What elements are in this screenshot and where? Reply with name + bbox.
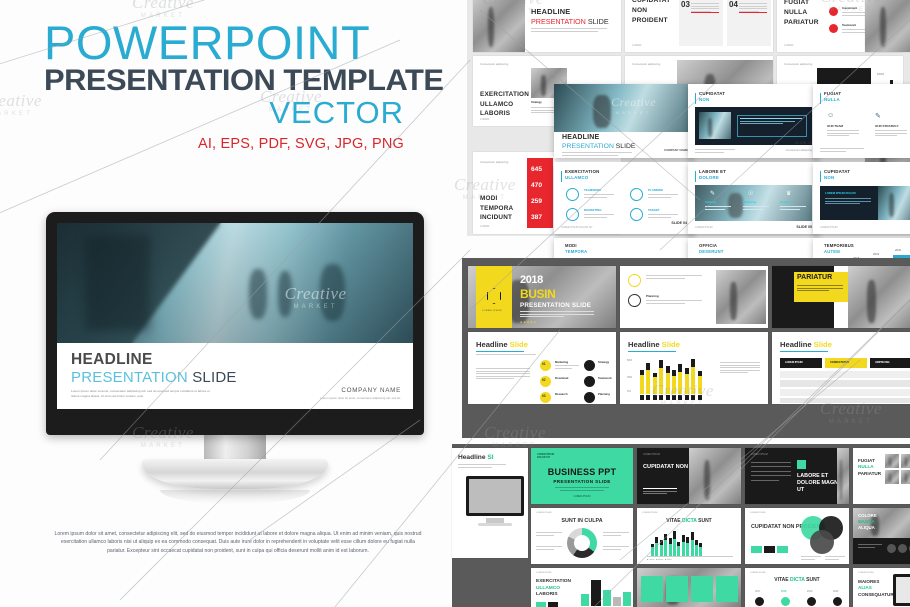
list-item[interactable] (865, 0, 910, 52)
list-item[interactable]: LOREM IPSUM CUPIDATAT NON PROIDENT (745, 508, 849, 564)
file-formats-label: AI, EPS, PDF, SVG, JPG, PNG (44, 136, 404, 152)
slide-title: MAIORES (858, 579, 879, 584)
slide-subtitle: PRESENTATION SLIDE (531, 17, 609, 26)
slide-subtitle: PRESENTATION SLIDE (562, 143, 635, 150)
slide-title: COLORE (858, 513, 877, 518)
slide-caption: HEADLINE PRESENTATION SLIDE Lorem ipsum … (57, 343, 413, 409)
year-label: 2018 (520, 274, 543, 286)
page-title: POWERPOINT (44, 20, 404, 65)
slide-title: EXERCITATION ULLAMCO LABORIS (480, 90, 526, 119)
page-subtitle: PRESENTATION TEMPLATE (44, 66, 415, 96)
axis-tick: 50% (627, 359, 632, 362)
poster-body-text: Lorem ipsum dolor sit amet, consectetur … (52, 530, 424, 555)
list-item[interactable]: PARIATUR (772, 266, 910, 328)
slide-title: EXERCITATION (536, 579, 571, 584)
slide-subtitle: NON (824, 176, 834, 181)
slide-subtitle: TEMPORA (565, 250, 587, 255)
monitor-bezel: Creative MARKET HEADLINE PRESENTATION SL… (46, 212, 424, 435)
company-name-label: COMPANY NAME (664, 148, 688, 152)
company-name-label: COMPANY NAME (320, 387, 401, 394)
slide-title: HEADLINE (531, 8, 570, 16)
axis-tick: 2019 (873, 252, 879, 256)
axis-tick: 2020 (895, 248, 901, 252)
data-value: 259 (531, 198, 542, 205)
bar-chart (640, 356, 702, 394)
list-item[interactable]: Creative MARKET HEADLINE PRESENTATION SL… (554, 84, 694, 158)
list-item[interactable]: Headline Sl (452, 448, 528, 558)
slide-subtitle: NON (699, 98, 709, 103)
table-header: LOREM IPSUM (785, 361, 803, 364)
list-item[interactable]: Planning (620, 266, 768, 328)
chart-title: Headline Slide (628, 340, 680, 349)
table-header: ADIPISCING (875, 361, 890, 364)
cover-subtitle: PRESENTATION SLIDE (520, 302, 591, 309)
list-item[interactable]: LOREM IPSUM VITAE DICTA SUNT ■ Lorem ■ I… (637, 508, 741, 564)
slide-subtitle: ULLAMCO (565, 176, 588, 181)
slide-title: FUGIAT (858, 458, 875, 463)
slide-title: Headline Slide (476, 340, 528, 349)
monitor-neck (204, 435, 266, 459)
slide-subline: PRESENTATION SLIDE (71, 369, 413, 386)
slide-title: Headline Slide (780, 340, 832, 349)
monitor-mockup: Creative MARKET HEADLINE PRESENTATION SL… (46, 212, 424, 504)
slide-title: MODI (565, 244, 577, 249)
slide-subtitle: PRESENTATION SLIDE (531, 479, 633, 484)
data-value: 470 (531, 182, 542, 189)
list-item[interactable]: LOREM IPSUM SUNT IN CULPA (531, 508, 633, 564)
list-item[interactable]: EXERCITATION ULLAMCO TEAMWORK PLANNING M… (554, 162, 694, 234)
data-value: 387 (531, 214, 542, 221)
slide-number: 03 (681, 0, 690, 9)
slide-subtitle: AUTEM (824, 250, 840, 255)
bar-chart (651, 528, 702, 556)
slide-title: BUSINESS PPT (531, 467, 633, 477)
chart-title: SUNT IN CULPA (531, 518, 633, 524)
slide-title: HEADLINE (562, 134, 599, 142)
list-item[interactable]: Headline Slide LOREM IPSUM CONSECTETUR A… (772, 332, 910, 404)
list-item[interactable]: Headline Slide 01 Marketing Strategy 02 … (468, 332, 616, 404)
slide-subtitle: DOLORE (699, 176, 719, 181)
list-item[interactable]: LOREM IPSUM 2018 BUSIN PRESENTATION SLID… (468, 266, 616, 328)
poster-headline: POWERPOINT PRESENTATION TEMPLATE VECTOR … (44, 20, 404, 152)
list-item[interactable]: COLOREMAGNAALIQUA (853, 508, 910, 564)
poster-canvas: POWERPOINT PRESENTATION TEMPLATE VECTOR … (0, 0, 910, 607)
list-item[interactable]: LABORE ET DOLORE ✎ Strategy ☉ Marketing … (688, 162, 819, 234)
list-item[interactable]: LOREM IPSUM VITAE DICTA SUNT 2017 2018 2… (745, 568, 849, 607)
list-item[interactable]: Headline Slide 50% 25% 0% (620, 332, 768, 404)
monitor-screen: Creative MARKET HEADLINE PRESENTATION SL… (57, 223, 413, 409)
monitor-reflection (160, 490, 310, 504)
page-tertiary-title: VECTOR (44, 97, 404, 130)
data-value: 645 (531, 166, 542, 173)
slide-title: TEMPORIBUS (824, 244, 854, 249)
slide-company-block: COMPANY NAME Lorem ipsum dolor sit amet,… (320, 387, 401, 400)
axis-tick: 2018 (781, 590, 786, 593)
slide-hero-photo: Creative MARKET (57, 223, 413, 343)
monitor-base (142, 459, 328, 489)
list-item[interactable]: CUPIDATAT NON PROIDENT LOREM 03 INCIDUNT… (625, 0, 773, 52)
slide-title: VITAE DICTA SUNT (745, 577, 849, 583)
slide-title: PARIATUR (797, 274, 832, 281)
slide-title: OFFICIA (699, 244, 717, 249)
slide-subtitle: DESERUNT (699, 250, 724, 255)
list-item[interactable]: LOREM IPSUM EXERCITATIONULLAMCOLABORIS (531, 568, 633, 607)
company-sub-text: Lorem ipsum dolor sit amet, consectetur … (320, 396, 401, 400)
list-item[interactable]: LOREM IPSUMDOLOR SIT BUSINESS PPT PRESEN… (531, 448, 633, 504)
axis-tick: 2019 (807, 590, 812, 593)
list-item[interactable] (637, 568, 741, 607)
slide-title: MODI TEMPORA INCIDUNT (480, 194, 524, 223)
slide-subtitle: NULLA (824, 98, 840, 103)
list-item[interactable]: CUPIDATAT NON LOREM IPSUM DOLOR LOREM IP… (813, 162, 910, 234)
axis-tick: 2020 (833, 590, 838, 593)
list-item[interactable]: HEADLINE PRESENTATION SLIDE (473, 0, 621, 52)
table-header: CONSECTETUR (830, 361, 849, 364)
list-item[interactable]: FUGIAT NULLA ☺ OUR TEAM ✎ OUR STRATEGY (813, 84, 910, 158)
slide-collage: HEADLINE PRESENTATION SLIDE CUPIDATAT NO… (461, 0, 910, 607)
list-item[interactable]: LOREM IPSUM LABORE ET DOLORE MAGNA UT (745, 448, 849, 504)
axis-tick: 25% (627, 376, 632, 379)
axis-tick: 0% (627, 390, 631, 393)
cover-word: BUSIN (520, 287, 555, 301)
chart-title: VITAE DICTA SUNT (637, 518, 741, 524)
list-item[interactable]: CUPIDATAT NON SLIDE 01Consectetur adipis… (688, 84, 819, 158)
slide-headline: HEADLINE (71, 352, 413, 368)
slide-title: FUGIAT NULLA PARIATUR (784, 0, 824, 28)
slide-title: CUPIDATAT NON PROIDENT (632, 0, 676, 26)
slide-number: 04 (729, 0, 738, 9)
list-item[interactable]: LOREM IPSUM MAIORESALIASCONSEQUATUR (853, 568, 910, 607)
list-item[interactable]: LOREM IPSUM CUPIDATAT NON PROIDENT (637, 448, 741, 504)
axis-tick: 2017 (755, 590, 760, 593)
list-item[interactable]: FUGIATNULLAPARIATUR (853, 448, 910, 504)
slide-body-text: Lorem ipsum dolor sit amet, consectetur … (71, 389, 211, 398)
